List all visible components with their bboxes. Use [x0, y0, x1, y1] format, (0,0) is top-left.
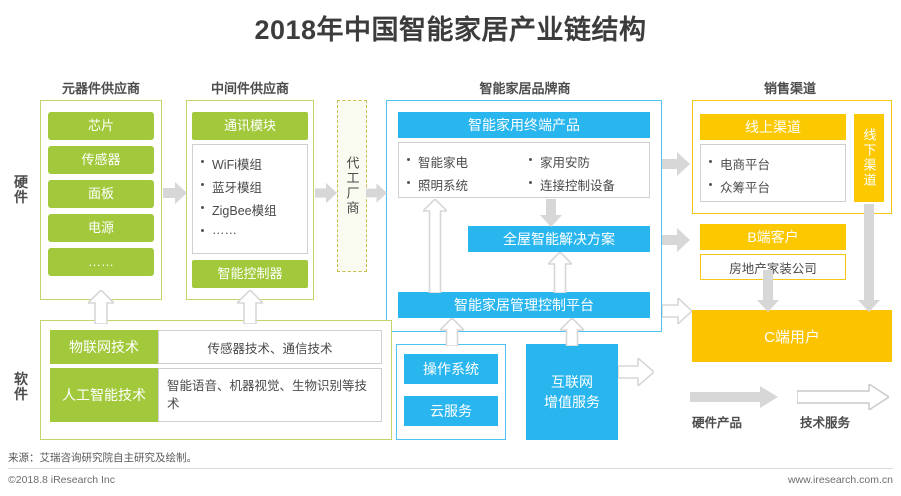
component-panel[interactable]: 面板 [48, 180, 154, 208]
channel-offline[interactable]: 线下渠道 [854, 114, 884, 202]
brand-item-security[interactable]: 家用安防 [525, 152, 615, 171]
value-added-line-1: 互联网 [551, 372, 593, 392]
source-note: 来源：艾瑞咨询研究院自主研究及绘制。 [8, 450, 197, 465]
brand-management-platform[interactable]: 智能家居管理控制平台 [398, 292, 650, 318]
middleware-list: WiFi模组 蓝牙模组 ZigBee模组 …… [197, 154, 305, 237]
software-row-0-name[interactable]: 物联网技术 [50, 330, 158, 364]
arrow-oem-to-brand [366, 182, 387, 204]
arrow-software-to-components [88, 290, 114, 324]
brand-terminal-header[interactable]: 智能家用终端产品 [398, 112, 650, 138]
middleware-item-zigbee[interactable]: ZigBee模组 [197, 200, 305, 219]
brand-item-lighting[interactable]: 照明系统 [403, 175, 468, 194]
brand-cloud-service[interactable]: 云服务 [404, 396, 498, 426]
middleware-header[interactable]: 通讯模块 [192, 112, 308, 140]
brand-terminal-list-box: 智能家电 照明系统 家用安防 连接控制设备 [398, 142, 650, 198]
column-header-components: 元器件供应商 [36, 78, 166, 97]
channel-c-user[interactable]: C端用户 [692, 310, 892, 362]
column-header-middleware: 中间件供应商 [180, 78, 320, 97]
page-title: 2018年中国智能家居产业链结构 [0, 8, 901, 47]
column-header-channel: 销售渠道 [700, 78, 880, 97]
middleware-list-box: WiFi模组 蓝牙模组 ZigBee模组 …… [192, 144, 308, 254]
website-url: www.iresearch.com.cn [788, 474, 893, 486]
channel-online-list: 电商平台 众筹平台 [705, 154, 843, 196]
flow-label-tech-service: 技术服务 [800, 412, 850, 431]
software-row-0-desc: 传感器技术、通信技术 [158, 330, 382, 364]
brand-terminal-list-left: 智能家电 照明系统 [403, 152, 468, 198]
software-row-1-desc: 智能语音、机器视觉、生物识别等技术 [158, 368, 382, 422]
middleware-item-wifi[interactable]: WiFi模组 [197, 154, 305, 173]
copyright-text: ©2018.8 iResearch Inc [8, 474, 115, 486]
arrow-offline-to-c-user [858, 204, 880, 312]
flow-label-hardware-product: 硬件产品 [692, 412, 742, 431]
arrow-terminal-to-whole-house [540, 199, 562, 227]
component-power[interactable]: 电源 [48, 214, 154, 242]
brand-operating-system[interactable]: 操作系统 [404, 354, 498, 384]
oem-panel[interactable]: 代工厂商 [337, 100, 367, 272]
arrow-value-added-to-platform [560, 318, 584, 346]
arrow-value-added-outflow [618, 358, 654, 386]
infographic-canvas: 2018年中国智能家居产业链结构 元器件供应商 中间件供应商 智能家居品牌商 销… [0, 0, 901, 496]
side-label-software: 软件 [12, 372, 30, 401]
middleware-item-more[interactable]: …… [197, 223, 305, 237]
column-header-brand: 智能家居品牌商 [400, 78, 650, 97]
channel-online-list-box: 电商平台 众筹平台 [700, 144, 846, 202]
channel-item-crowdfunding[interactable]: 众筹平台 [705, 177, 843, 196]
component-chip[interactable]: 芯片 [48, 112, 154, 140]
component-more[interactable]: …… [48, 248, 154, 276]
brand-item-appliance[interactable]: 智能家电 [403, 152, 468, 171]
arrow-brand-to-b-customer [662, 228, 690, 252]
software-row-1-name[interactable]: 人工智能技术 [50, 368, 158, 422]
brand-internet-value-added[interactable]: 互联网 增值服务 [526, 344, 618, 440]
oem-label: 代工厂商 [343, 156, 362, 216]
channel-item-ecommerce[interactable]: 电商平台 [705, 154, 843, 173]
channel-offline-label: 线下渠道 [860, 128, 879, 188]
arrow-components-to-middleware [163, 182, 187, 204]
component-sensor[interactable]: 传感器 [48, 146, 154, 174]
channel-b-header[interactable]: B端客户 [700, 224, 846, 250]
arrow-os-to-platform [440, 318, 464, 346]
brand-item-control-device[interactable]: 连接控制设备 [525, 175, 615, 194]
arrow-platform-to-terminal [423, 199, 447, 293]
brand-terminal-list-right: 家用安防 连接控制设备 [525, 152, 615, 198]
arrow-online-to-c-user [757, 270, 779, 312]
side-label-hardware: 硬件 [12, 175, 30, 204]
footer-divider [8, 468, 893, 469]
arrow-software-to-middleware [237, 290, 263, 324]
arrow-middleware-to-oem [315, 182, 337, 204]
arrow-brand-to-c-user [662, 298, 692, 324]
middleware-item-bluetooth[interactable]: 蓝牙模组 [197, 177, 305, 196]
arrow-platform-to-whole-house [548, 252, 572, 293]
arrow-brand-to-online-channel [662, 152, 690, 176]
middleware-controller[interactable]: 智能控制器 [192, 260, 308, 288]
value-added-line-2: 增值服务 [544, 392, 600, 412]
channel-online-header[interactable]: 线上渠道 [700, 114, 846, 140]
arrow-tech-service [797, 384, 889, 410]
brand-whole-house-solution[interactable]: 全屋智能解决方案 [468, 226, 650, 252]
arrow-hardware-product [690, 386, 778, 408]
